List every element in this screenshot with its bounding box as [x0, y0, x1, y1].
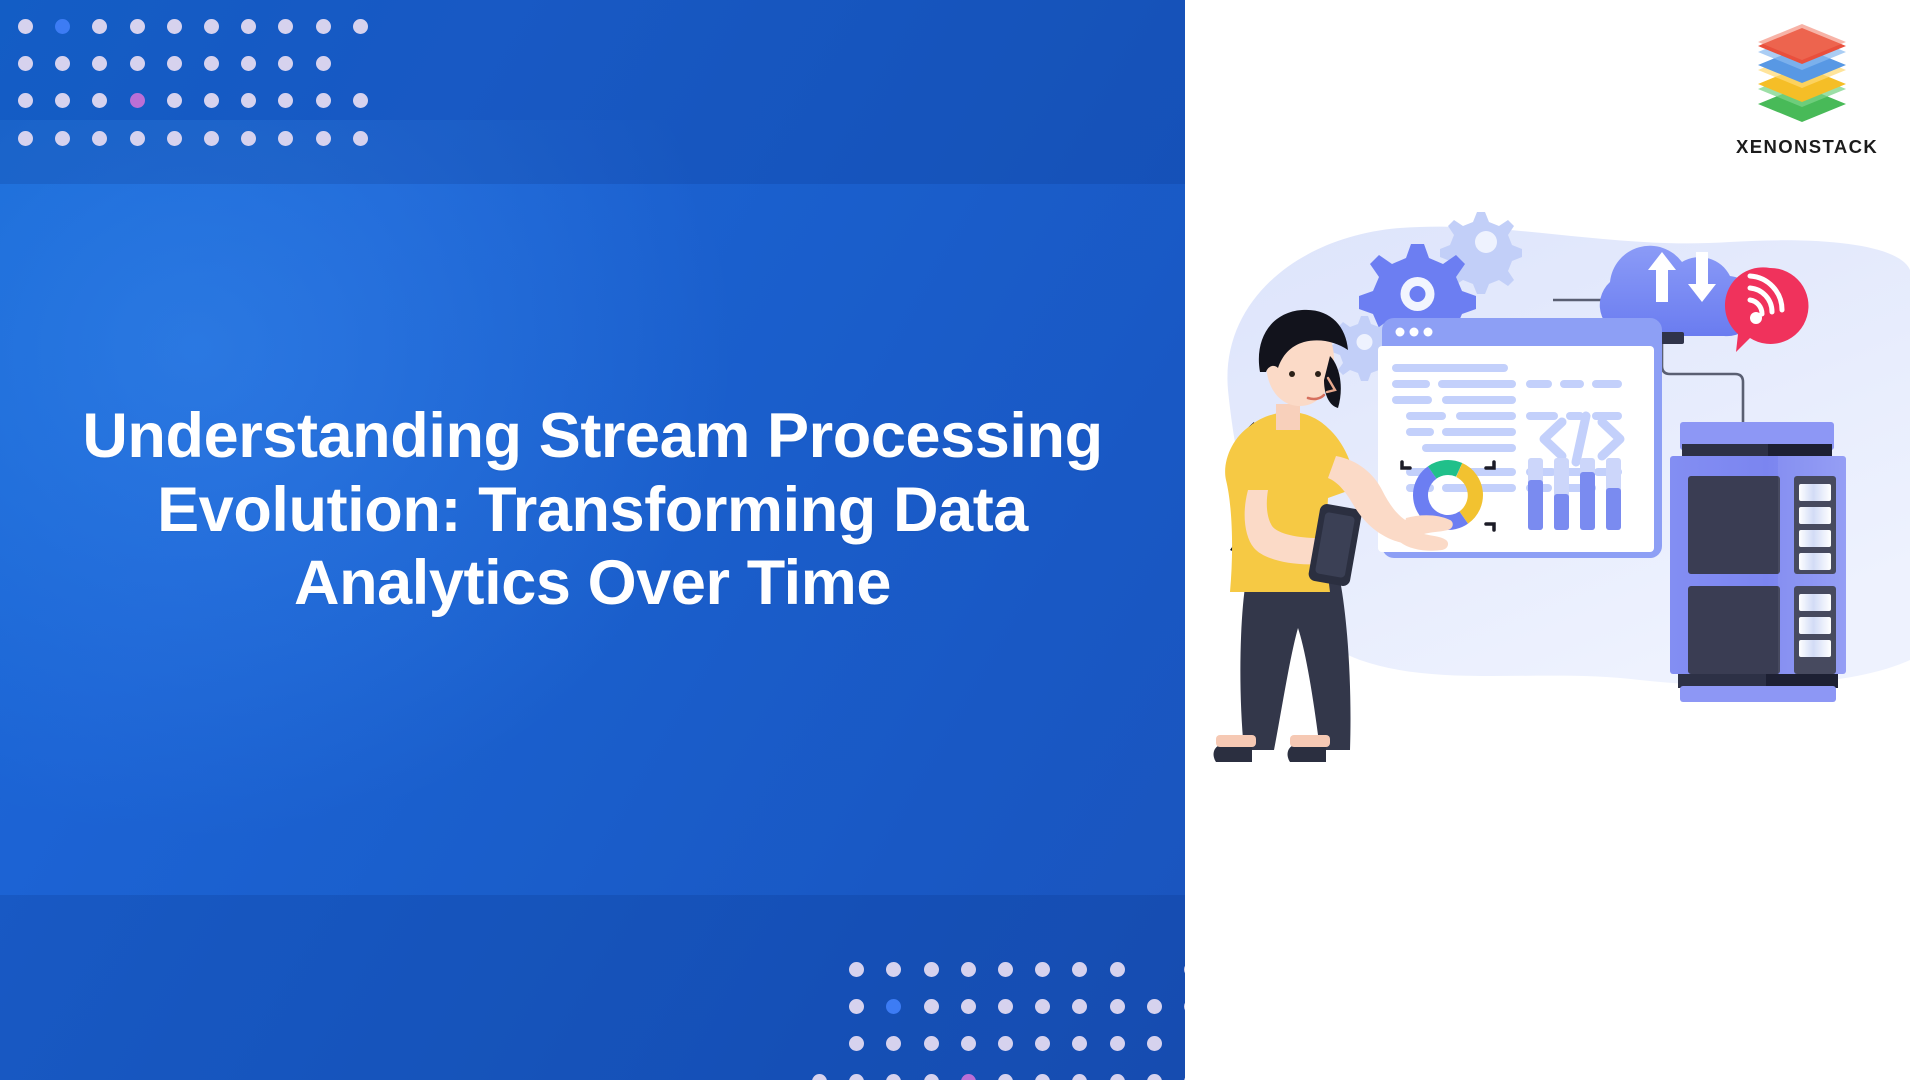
decor-dot: [998, 1074, 1013, 1080]
decor-dot: [18, 19, 33, 34]
decor-dot: [241, 19, 256, 34]
decor-dot: [18, 93, 33, 108]
decor-dot: [886, 962, 901, 977]
brand-name: XENONSTACK: [1736, 136, 1868, 158]
decor-dot: [924, 1074, 939, 1080]
decor-dot: [1110, 999, 1125, 1014]
brand-logo[interactable]: XENONSTACK: [1736, 22, 1868, 158]
server-rack: [1670, 422, 1846, 702]
decor-dot: [278, 19, 293, 34]
decor-dot: [130, 131, 145, 146]
decor-dot: [961, 962, 976, 977]
decor-dot: [18, 131, 33, 146]
decor-dot: [316, 93, 331, 108]
person-pants: [1240, 580, 1350, 750]
decor-dot: [1147, 1036, 1162, 1051]
decor-dot: [353, 93, 368, 108]
decor-dot: [92, 131, 107, 146]
decor-dot: [924, 962, 939, 977]
decor-dot: [1110, 962, 1125, 977]
page-title-line-3: Analytics Over Time: [36, 547, 1149, 621]
decor-dot: [1184, 999, 1185, 1014]
decor-dot: [92, 93, 107, 108]
decor-dot: [241, 131, 256, 146]
decor-dot: [1147, 999, 1162, 1014]
decor-dot: [1110, 1074, 1125, 1080]
decor-dot: [353, 19, 368, 34]
data-analytics-illustration: [1210, 190, 1910, 810]
decor-dot: [1035, 962, 1050, 977]
decor-dot: [1072, 1036, 1087, 1051]
page-title-line-1: Understanding Stream Processing: [36, 400, 1149, 474]
decor-dot: [241, 93, 256, 108]
decor-dot: [1110, 1036, 1125, 1051]
decor-dot: [924, 999, 939, 1014]
decor-dot: [961, 1036, 976, 1051]
decor-dot: [241, 56, 256, 71]
page-title-line-2: Evolution: Transforming Data: [36, 474, 1149, 548]
hero-blue-panel: Understanding Stream Processing Evolutio…: [0, 0, 1185, 1080]
decor-dot: [92, 56, 107, 71]
decor-dot: [1072, 999, 1087, 1014]
decor-dot: [1072, 962, 1087, 977]
decor-dot: [55, 19, 70, 34]
decor-dot: [204, 56, 219, 71]
decor-dot: [167, 131, 182, 146]
panel-bottom-band: [0, 895, 1185, 1080]
decor-dot: [167, 56, 182, 71]
page-title: Understanding Stream Processing Evolutio…: [0, 400, 1185, 621]
decor-dot: [812, 1074, 827, 1080]
browser-dots: [1396, 328, 1433, 337]
decor-dot: [278, 131, 293, 146]
decor-dot: [886, 1074, 901, 1080]
decor-dot: [849, 1036, 864, 1051]
stacked-layers-logo-icon: [1754, 22, 1850, 130]
decor-dot: [961, 999, 976, 1014]
decor-dot: [1184, 962, 1185, 977]
decor-dot: [130, 93, 145, 108]
decor-dot: [278, 93, 293, 108]
decor-dot: [1072, 1074, 1087, 1080]
decor-dot: [278, 56, 293, 71]
decor-dot: [130, 56, 145, 71]
decor-dot: [55, 131, 70, 146]
decor-dot: [998, 999, 1013, 1014]
decor-dot: [1035, 1036, 1050, 1051]
decor-dot: [849, 999, 864, 1014]
decor-dot: [204, 93, 219, 108]
decor-dot: [55, 56, 70, 71]
decor-dot: [998, 1036, 1013, 1051]
decor-dot: [353, 131, 368, 146]
decor-dot: [167, 93, 182, 108]
hero-banner: Understanding Stream Processing Evolutio…: [0, 0, 1920, 1080]
decor-dot: [55, 93, 70, 108]
decor-dot: [1035, 1074, 1050, 1080]
decor-dot: [167, 19, 182, 34]
decor-dot: [316, 131, 331, 146]
decor-dot: [1035, 999, 1050, 1014]
decor-dot: [1184, 1074, 1185, 1080]
decor-dot: [18, 56, 33, 71]
decor-dot: [998, 962, 1013, 977]
decor-dot: [1147, 1074, 1162, 1080]
decor-dot: [961, 1074, 976, 1080]
decor-dot: [886, 999, 901, 1014]
decor-dot: [886, 1036, 901, 1051]
decor-dot: [204, 19, 219, 34]
decor-dot: [849, 1074, 864, 1080]
decor-dot: [316, 56, 331, 71]
decor-dot: [204, 131, 219, 146]
decor-dot: [316, 19, 331, 34]
decor-dot: [92, 19, 107, 34]
decor-dot: [924, 1036, 939, 1051]
decor-dot: [849, 962, 864, 977]
decor-dot: [130, 19, 145, 34]
